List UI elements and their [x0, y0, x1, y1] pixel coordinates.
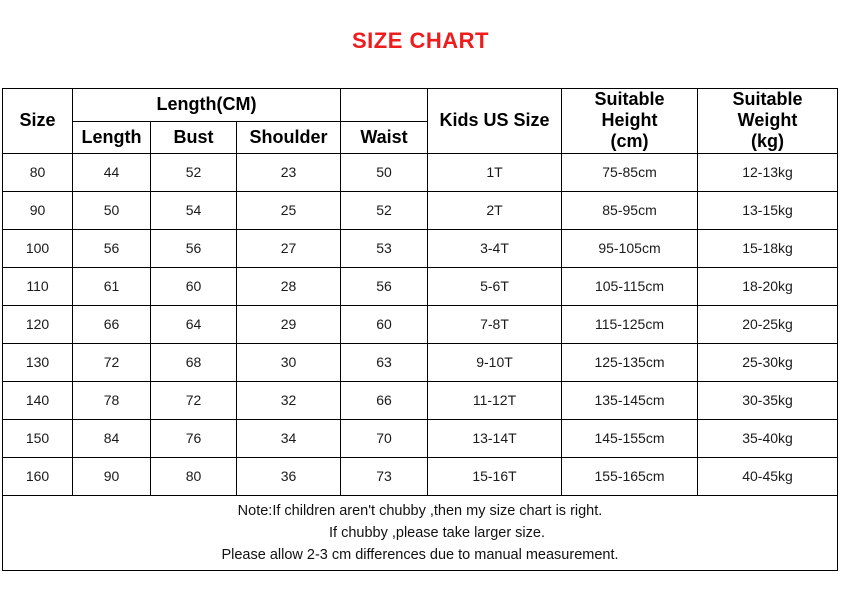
- cell-kids-us: 9-10T: [428, 343, 562, 381]
- cell-shoulder: 34: [237, 419, 341, 457]
- cell-waist: 66: [341, 381, 428, 419]
- cell-kids-us: 2T: [428, 191, 562, 229]
- header-length: Length: [73, 121, 151, 153]
- cell-kids-us: 7-8T: [428, 305, 562, 343]
- cell-shoulder: 28: [237, 267, 341, 305]
- cell-size: 130: [3, 343, 73, 381]
- table-row: 120 66 64 29 60 7-8T 115-125cm 20-25kg: [3, 305, 838, 343]
- header-length-cm-group: Length(CM): [73, 89, 341, 122]
- cell-size: 150: [3, 419, 73, 457]
- cell-waist: 50: [341, 153, 428, 191]
- cell-length: 50: [73, 191, 151, 229]
- cell-size: 120: [3, 305, 73, 343]
- cell-waist: 70: [341, 419, 428, 457]
- table-row: 130 72 68 30 63 9-10T 125-135cm 25-30kg: [3, 343, 838, 381]
- cell-bust: 72: [151, 381, 237, 419]
- cell-length: 72: [73, 343, 151, 381]
- header-suitable-weight-line3: (kg): [698, 131, 837, 152]
- cell-kids-us: 11-12T: [428, 381, 562, 419]
- table-row: 100 56 56 27 53 3-4T 95-105cm 15-18kg: [3, 229, 838, 267]
- cell-bust: 68: [151, 343, 237, 381]
- cell-bust: 76: [151, 419, 237, 457]
- header-waist-spacer: [341, 89, 428, 122]
- cell-bust: 80: [151, 457, 237, 495]
- cell-shoulder: 32: [237, 381, 341, 419]
- cell-bust: 54: [151, 191, 237, 229]
- header-shoulder: Shoulder: [237, 121, 341, 153]
- header-bust: Bust: [151, 121, 237, 153]
- table-row: 80 44 52 23 50 1T 75-85cm 12-13kg: [3, 153, 838, 191]
- note-line-1: Note:If children aren't chubby ,then my …: [3, 500, 837, 522]
- page-title: SIZE CHART: [0, 0, 841, 52]
- table-body: 80 44 52 23 50 1T 75-85cm 12-13kg 90 50 …: [3, 153, 838, 570]
- cell-length: 61: [73, 267, 151, 305]
- cell-length: 66: [73, 305, 151, 343]
- cell-height: 125-135cm: [562, 343, 698, 381]
- cell-shoulder: 29: [237, 305, 341, 343]
- cell-length: 56: [73, 229, 151, 267]
- header-row-group: Size Length(CM) Kids US Size Suitable He…: [3, 89, 838, 122]
- cell-weight: 18-20kg: [698, 267, 838, 305]
- cell-weight: 12-13kg: [698, 153, 838, 191]
- cell-height: 145-155cm: [562, 419, 698, 457]
- cell-kids-us: 15-16T: [428, 457, 562, 495]
- cell-shoulder: 23: [237, 153, 341, 191]
- cell-height: 75-85cm: [562, 153, 698, 191]
- header-suitable-weight: Suitable Weight (kg): [698, 89, 838, 154]
- cell-length: 44: [73, 153, 151, 191]
- table-row: 140 78 72 32 66 11-12T 135-145cm 30-35kg: [3, 381, 838, 419]
- cell-kids-us: 3-4T: [428, 229, 562, 267]
- cell-kids-us: 13-14T: [428, 419, 562, 457]
- cell-height: 95-105cm: [562, 229, 698, 267]
- header-suitable-height-line1: Suitable: [562, 89, 697, 110]
- cell-weight: 35-40kg: [698, 419, 838, 457]
- cell-bust: 64: [151, 305, 237, 343]
- cell-length: 78: [73, 381, 151, 419]
- cell-kids-us: 5-6T: [428, 267, 562, 305]
- table-header: Size Length(CM) Kids US Size Suitable He…: [3, 89, 838, 154]
- cell-height: 115-125cm: [562, 305, 698, 343]
- table-row: 110 61 60 28 56 5-6T 105-115cm 18-20kg: [3, 267, 838, 305]
- cell-shoulder: 36: [237, 457, 341, 495]
- cell-size: 160: [3, 457, 73, 495]
- cell-length: 90: [73, 457, 151, 495]
- cell-shoulder: 27: [237, 229, 341, 267]
- cell-length: 84: [73, 419, 151, 457]
- cell-bust: 56: [151, 229, 237, 267]
- cell-weight: 13-15kg: [698, 191, 838, 229]
- cell-shoulder: 25: [237, 191, 341, 229]
- cell-bust: 52: [151, 153, 237, 191]
- header-suitable-height-line2: Height: [562, 110, 697, 131]
- table-row: 150 84 76 34 70 13-14T 145-155cm 35-40kg: [3, 419, 838, 457]
- cell-weight: 40-45kg: [698, 457, 838, 495]
- cell-weight: 15-18kg: [698, 229, 838, 267]
- cell-waist: 60: [341, 305, 428, 343]
- cell-size: 80: [3, 153, 73, 191]
- header-suitable-weight-line2: Weight: [698, 110, 837, 131]
- cell-height: 105-115cm: [562, 267, 698, 305]
- note-line-2: If chubby ,please take larger size.: [3, 522, 837, 544]
- table-row: 160 90 80 36 73 15-16T 155-165cm 40-45kg: [3, 457, 838, 495]
- cell-weight: 20-25kg: [698, 305, 838, 343]
- header-suitable-height-line3: (cm): [562, 131, 697, 152]
- cell-height: 85-95cm: [562, 191, 698, 229]
- cell-size: 140: [3, 381, 73, 419]
- cell-kids-us: 1T: [428, 153, 562, 191]
- cell-height: 135-145cm: [562, 381, 698, 419]
- notes-row: Note:If children aren't chubby ,then my …: [3, 495, 838, 570]
- cell-weight: 30-35kg: [698, 381, 838, 419]
- cell-waist: 52: [341, 191, 428, 229]
- header-waist: Waist: [341, 121, 428, 153]
- size-table: Size Length(CM) Kids US Size Suitable He…: [2, 88, 838, 571]
- table-row: 90 50 54 25 52 2T 85-95cm 13-15kg: [3, 191, 838, 229]
- header-kids-us-size: Kids US Size: [428, 89, 562, 154]
- cell-shoulder: 30: [237, 343, 341, 381]
- cell-waist: 73: [341, 457, 428, 495]
- cell-waist: 56: [341, 267, 428, 305]
- cell-size: 110: [3, 267, 73, 305]
- cell-size: 100: [3, 229, 73, 267]
- size-chart-page: SIZE CHART Size Length(CM) Kids US Size: [0, 0, 841, 602]
- header-suitable-weight-line1: Suitable: [698, 89, 837, 110]
- size-table-container: Size Length(CM) Kids US Size Suitable He…: [2, 88, 837, 571]
- header-suitable-height: Suitable Height (cm): [562, 89, 698, 154]
- cell-size: 90: [3, 191, 73, 229]
- cell-bust: 60: [151, 267, 237, 305]
- note-line-3: Please allow 2-3 cm differences due to m…: [3, 544, 837, 566]
- notes-cell: Note:If children aren't chubby ,then my …: [3, 495, 838, 570]
- cell-waist: 53: [341, 229, 428, 267]
- header-size: Size: [3, 89, 73, 154]
- cell-waist: 63: [341, 343, 428, 381]
- cell-weight: 25-30kg: [698, 343, 838, 381]
- cell-height: 155-165cm: [562, 457, 698, 495]
